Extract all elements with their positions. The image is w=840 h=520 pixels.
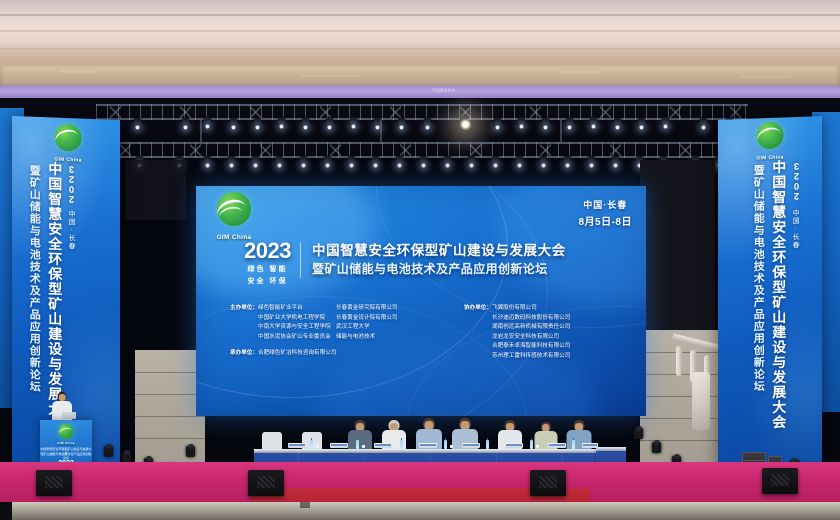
- water-bottle: [400, 440, 403, 449]
- backstage-gap: [640, 160, 715, 330]
- stage-light: [276, 156, 283, 165]
- stage-light: [182, 118, 189, 127]
- organizer-name: 合肥绿色矿冶科技咨询有限公司: [258, 349, 336, 359]
- stage-light: [590, 117, 597, 126]
- host-col1-0: 绿色智能矿业平台: [258, 304, 336, 314]
- stage-light: [228, 156, 235, 165]
- coorg-4: 合肥泰禾卓海智能科技有限公司: [492, 342, 570, 352]
- screen-year-sub1: 绿色 智能: [244, 265, 291, 276]
- stage-light: [252, 156, 259, 165]
- balustrade-newel: [692, 372, 710, 430]
- water-bottle: [572, 440, 575, 449]
- stage-light: [566, 118, 573, 127]
- coorg-5: 苏州理工雷科传感技术有限公司: [492, 352, 570, 362]
- banner-right-logo: GIM China: [748, 121, 792, 163]
- host-col1-1: 中国矿业大学机电工程学院: [258, 314, 336, 324]
- ceiling-cornice: [0, 66, 840, 88]
- stage-light: [326, 118, 333, 127]
- stage-light: [662, 117, 669, 126]
- stage-light: [518, 117, 525, 126]
- sponsors-coorg-block: 协办单位：飞翼股份有限公司 协办单位：长沙迪迈数码科技股份有限公司 协办单位：湖…: [464, 304, 570, 362]
- nameplate: [548, 443, 566, 448]
- host-col2-2: 武汉工程大学: [336, 323, 408, 333]
- stage-light: [614, 118, 621, 127]
- screen-year-sub2: 安全 环保: [244, 277, 291, 288]
- stage-light: [700, 118, 707, 127]
- banner-right-year: 2023: [792, 161, 802, 201]
- water-bottle: [310, 440, 313, 449]
- screen-location: 中国·长春: [578, 198, 632, 211]
- screen-title-block: 中国智慧安全环保型矿山建设与发展大会 暨矿山储能与电池技术及产品应用创新论坛: [312, 243, 566, 277]
- coorg-label: 协办单位：: [464, 304, 492, 314]
- organizer-label: 承办单位：: [230, 349, 258, 359]
- water-bottle: [530, 440, 533, 449]
- host-label: 主办单位：: [230, 304, 258, 314]
- sponsors-host-block: 主办单位：绿色智能矿业平台长春黄金研究院有限公司 主办单位：中国矿业大学机电工程…: [230, 304, 408, 359]
- cup: [316, 445, 319, 448]
- ceiling-band-text: YAMAHA: [432, 88, 456, 94]
- stage-light: [300, 156, 307, 165]
- conference-stage-scene: YAMAHA: [0, 0, 840, 520]
- stage-light: [204, 117, 211, 126]
- stage-light: [324, 156, 331, 165]
- stage-light: [396, 156, 403, 165]
- stage-light: [612, 156, 619, 165]
- banner-left-year: 2023: [67, 164, 77, 204]
- laptop: [62, 412, 76, 419]
- stage-light: [540, 156, 547, 165]
- stage-light: [302, 118, 309, 127]
- vertical-banner-right: GIM China 2023 中国·长春 中国智慧安全环保型矿山建设与发展大会 …: [718, 116, 822, 472]
- floor-monitor-speaker: [248, 470, 284, 496]
- banner-right-location: 中国·长春: [792, 209, 799, 249]
- gim-china-logo: GIM China: [205, 192, 263, 242]
- nameplate: [462, 443, 480, 448]
- stage-light: [494, 118, 501, 127]
- floor-moving-light: [652, 442, 661, 453]
- stage-light: [420, 156, 427, 165]
- stage-light: [638, 118, 645, 127]
- screen-title-divider: [300, 242, 301, 278]
- podium-logo-text: GIM China: [54, 441, 78, 445]
- stage-light: [424, 118, 431, 127]
- stage-apron: [0, 502, 840, 520]
- floor-monitor-speaker: [36, 470, 72, 496]
- stage-light: [348, 156, 355, 165]
- floor-moving-light: [186, 446, 195, 457]
- coorg-2: 湖南创远高新机械有限责任公司: [492, 323, 570, 333]
- nameplate: [374, 443, 392, 448]
- banner-right-title-sub: 暨矿山储能与电池技术及产品应用创新论坛: [752, 164, 763, 392]
- water-bottle: [486, 440, 489, 449]
- podium-logo: GIM China: [54, 424, 78, 445]
- stage-light: [588, 156, 595, 165]
- stage-light: [204, 156, 211, 165]
- stage-light: [564, 156, 571, 165]
- stage-light: [254, 118, 261, 127]
- cup: [450, 445, 453, 448]
- banner-left-title-sub: 暨矿山储能与电池技术及产品应用创新论坛: [28, 165, 39, 393]
- host-col1-3: 中国水泥协会矿山专业委员会: [258, 333, 336, 343]
- coorg-1: 长沙迪迈数码科技股份有限公司: [492, 314, 570, 324]
- screen-dates: 8月5日-8日: [578, 213, 632, 228]
- screen-title-main: 中国智慧安全环保型矿山建设与发展大会: [312, 243, 566, 260]
- floor-monitor-speaker: [762, 468, 798, 494]
- stage-light: [350, 117, 357, 126]
- host-col1-2: 中南大学资源与安全工程学院: [258, 323, 336, 333]
- host-col2-3: 储能与电池技术: [336, 333, 408, 343]
- stage-light: [278, 117, 285, 126]
- host-col2-0: 长春黄金研究院有限公司: [336, 304, 408, 314]
- stage-light: [398, 118, 405, 127]
- cup: [362, 445, 365, 448]
- backstage-gap-left: [126, 160, 186, 220]
- nameplate: [419, 443, 437, 448]
- stage-light: [542, 118, 549, 127]
- stage-light: [492, 156, 499, 165]
- screen-year-block: 2023 绿色 智能 安全 环保: [244, 240, 291, 287]
- stage-light: [230, 118, 237, 127]
- coorg-0: 飞翼股份有限公司: [492, 304, 537, 314]
- screen-title-sub: 暨矿山储能与电池技术及产品应用创新论坛: [312, 262, 566, 277]
- stage-light: [468, 156, 475, 165]
- stage-light: [372, 156, 379, 165]
- nameplate: [288, 443, 306, 448]
- nameplate: [505, 443, 523, 448]
- floor-monitor-speaker: [530, 470, 566, 496]
- floor-moving-light: [104, 446, 113, 457]
- stage-light: [134, 118, 141, 127]
- stage-light: [516, 156, 523, 165]
- screen-location-block: 中国·长春 8月5日-8日: [578, 198, 632, 228]
- stage-light: [444, 156, 451, 165]
- cup: [536, 445, 539, 448]
- banner-left-logo: GIM China: [46, 123, 90, 165]
- water-bottle: [356, 440, 359, 449]
- coorg-3: 龙岩龙安安全科技有限公司: [492, 333, 559, 343]
- screen-year: 2023: [244, 240, 291, 262]
- stage-light-bright: [460, 116, 467, 125]
- truss-upper: [96, 104, 748, 120]
- water-bottle: [444, 440, 447, 449]
- floor-moving-light: [634, 428, 643, 439]
- host-col2-1: 长春黄金设计院有限公司: [336, 314, 408, 324]
- banner-left-location: 中国·长春: [68, 210, 75, 250]
- main-led-screen: GIM China 中国·长春 8月5日-8日 2023 绿色 智能 安全 环保…: [196, 186, 646, 416]
- nameplate: [330, 443, 348, 448]
- banner-right-title-main: 中国智慧安全环保型矿山建设与发展大会: [772, 159, 786, 429]
